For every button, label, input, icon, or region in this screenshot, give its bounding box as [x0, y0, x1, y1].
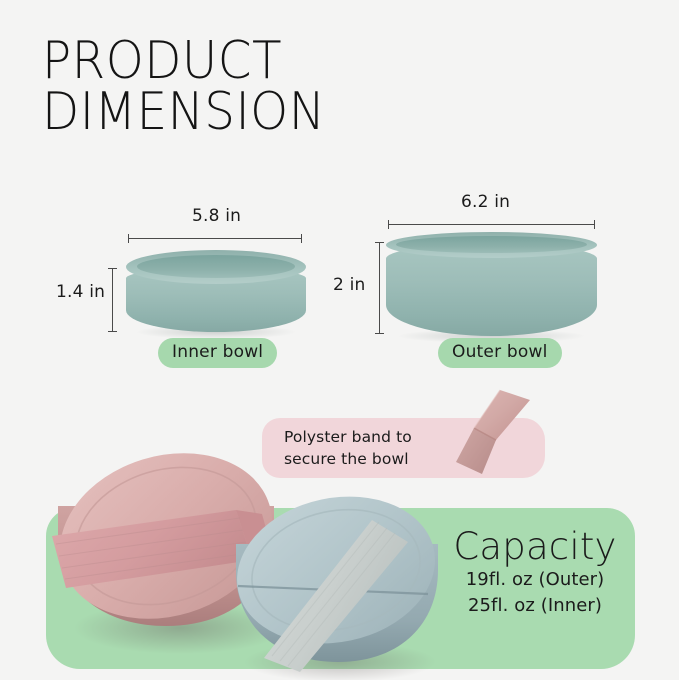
outer-bowl-height-label: 2 in — [333, 275, 366, 295]
page-title: PRODUCT DIMENSION — [42, 36, 462, 138]
callout-line-1: Polyster band to — [284, 426, 412, 448]
polyester-band-callout: Polyster band to secure the bowl — [262, 418, 545, 478]
outer-bowl-illustration — [386, 232, 597, 336]
outer-bowl-height-dimension-line — [379, 242, 380, 334]
inner-bowl-width-label: 5.8 in — [192, 206, 241, 226]
outer-bowl-cavity — [396, 236, 587, 253]
capacity-outer-value: 19fl. oz (Outer) — [420, 567, 650, 593]
outer-bowl-chip-label: Outer bowl — [438, 338, 562, 368]
outer-bowl-width-label: 6.2 in — [461, 192, 510, 212]
inner-bowl-illustration — [126, 250, 306, 332]
callout-text: Polyster band to secure the bowl — [284, 426, 412, 470]
title-line-2: DIMENSION — [42, 87, 433, 138]
capacity-inner-value: 25fl. oz (Inner) — [420, 593, 650, 619]
capacity-title: Capacity — [420, 527, 650, 567]
inner-bowl-height-label: 1.4 in — [56, 282, 105, 302]
outer-bowl-width-dimension-line — [388, 224, 595, 225]
callout-line-2: secure the bowl — [284, 448, 412, 470]
inner-bowl-height-dimension-line — [112, 268, 113, 332]
product-dimension-infographic: PRODUCT DIMENSION 5.8 in 1.4 in Inner bo… — [0, 0, 679, 679]
dimension-diagram-stage: 5.8 in 1.4 in Inner bowl 6.2 in 2 in — [0, 172, 679, 372]
inner-bowl-width-dimension-line — [128, 238, 302, 239]
inner-bowl-cavity — [137, 255, 295, 278]
inner-bowl-chip-label: Inner bowl — [158, 338, 277, 368]
capacity-block: Capacity 19fl. oz (Outer) 25fl. oz (Inne… — [420, 527, 650, 618]
title-line-1: PRODUCT — [42, 36, 433, 87]
